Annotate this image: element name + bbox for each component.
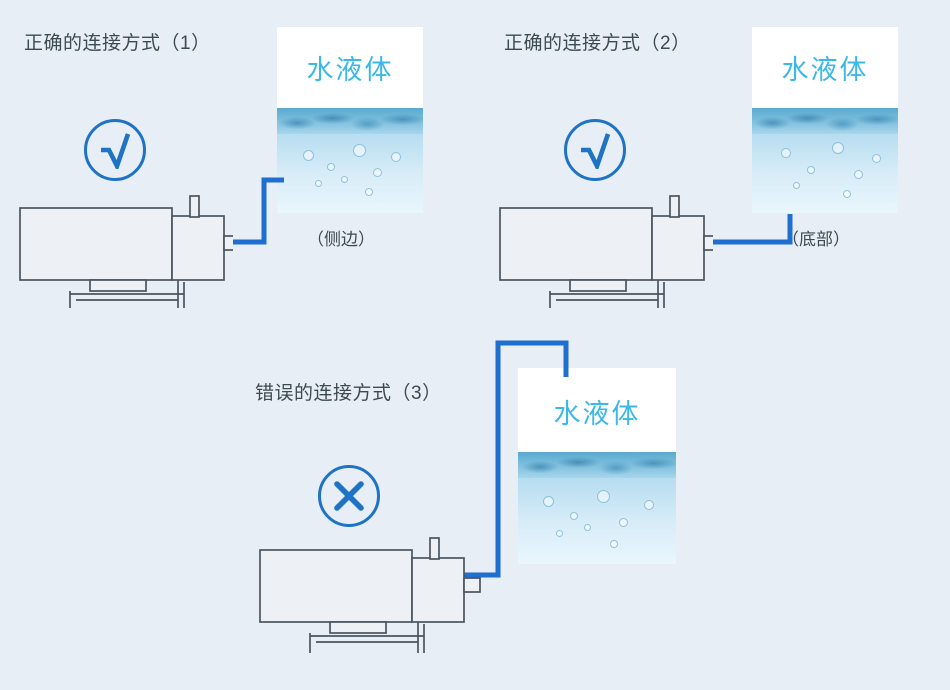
panel-correct-2: 正确的连接方式（2） 水液体 （底部）	[480, 0, 950, 330]
bubble	[327, 163, 335, 171]
cross-mark-icon-3	[318, 465, 380, 527]
panel-incorrect-3: 错误的连接方式（3） 水液体	[240, 330, 720, 690]
panel-1-title: 正确的连接方式（1）	[24, 34, 211, 53]
water-tank-label-3: 水液体	[518, 401, 676, 428]
panel-3-title: 错误的连接方式（3）	[255, 384, 442, 403]
bubble	[843, 190, 851, 198]
water-tank-1: 水液体	[277, 27, 423, 213]
bubble	[365, 188, 373, 196]
water-tank-label-1: 水液体	[277, 57, 423, 84]
bubble	[373, 168, 382, 177]
diagram-canvas: 正确的连接方式（1） 水液体 （侧边）	[0, 0, 950, 690]
bubble	[807, 166, 815, 174]
bubble	[872, 154, 881, 163]
water-surface-1	[277, 108, 423, 134]
bubble	[597, 490, 610, 503]
bubble	[854, 170, 863, 179]
panel-2-title: 正确的连接方式（2）	[504, 34, 691, 53]
bubble	[832, 142, 844, 154]
bubble	[341, 176, 348, 183]
bubble	[619, 518, 628, 527]
bubble	[353, 144, 366, 157]
water-tank-label-2: 水液体	[752, 57, 898, 84]
bubble	[781, 148, 791, 158]
bubble	[303, 150, 314, 161]
check-mark-icon-2	[564, 119, 626, 181]
bubble	[315, 180, 322, 187]
bubble	[610, 540, 618, 548]
tank-caption-1: （侧边）	[307, 231, 375, 248]
pump-assembly-2	[498, 190, 713, 310]
tank-water-body-1	[277, 108, 423, 213]
bubble	[644, 500, 654, 510]
panel-correct-1: 正确的连接方式（1） 水液体 （侧边）	[0, 0, 470, 330]
pump-assembly-3	[258, 525, 493, 665]
water-surface-2	[752, 108, 898, 134]
bubble	[391, 152, 401, 162]
pump-assembly-1	[18, 190, 233, 310]
check-mark-icon-1	[84, 119, 146, 181]
